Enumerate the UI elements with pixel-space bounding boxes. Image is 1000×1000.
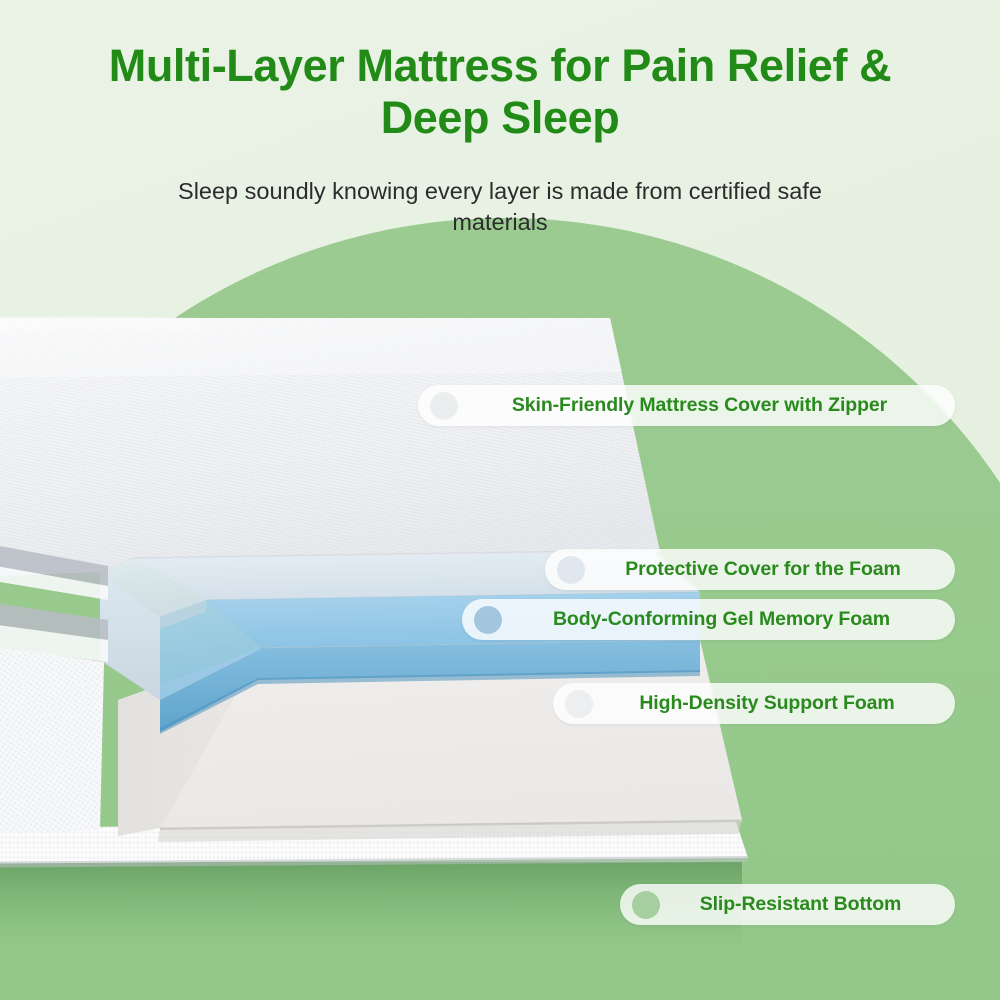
callout-gel-memory-foam[interactable]: Body-Conforming Gel Memory Foam	[462, 599, 955, 640]
callout-label: Protective Cover for the Foam	[585, 558, 955, 581]
infographic-stage: Multi-Layer Mattress for Pain Relief & D…	[0, 0, 1000, 1000]
bullet-icon	[430, 392, 458, 420]
mattress-illustration	[0, 0, 1000, 1000]
callout-label: Skin-Friendly Mattress Cover with Zipper	[458, 394, 955, 417]
page-subtitle: Sleep soundly knowing every layer is mad…	[0, 176, 1000, 239]
bullet-icon	[632, 891, 660, 919]
callout-skin-friendly-cover[interactable]: Skin-Friendly Mattress Cover with Zipper	[418, 385, 955, 426]
callout-label: Body-Conforming Gel Memory Foam	[502, 608, 955, 631]
bullet-icon	[565, 690, 593, 718]
callout-slip-resistant-bottom[interactable]: Slip-Resistant Bottom	[620, 884, 955, 925]
callout-label: Slip-Resistant Bottom	[660, 893, 955, 916]
page-title: Multi-Layer Mattress for Pain Relief & D…	[0, 40, 1000, 144]
bullet-icon	[557, 556, 585, 584]
callout-support-foam[interactable]: High-Density Support Foam	[553, 683, 955, 724]
bullet-icon	[474, 606, 502, 634]
callout-label: High-Density Support Foam	[593, 692, 955, 715]
callout-protective-cover[interactable]: Protective Cover for the Foam	[545, 549, 955, 590]
